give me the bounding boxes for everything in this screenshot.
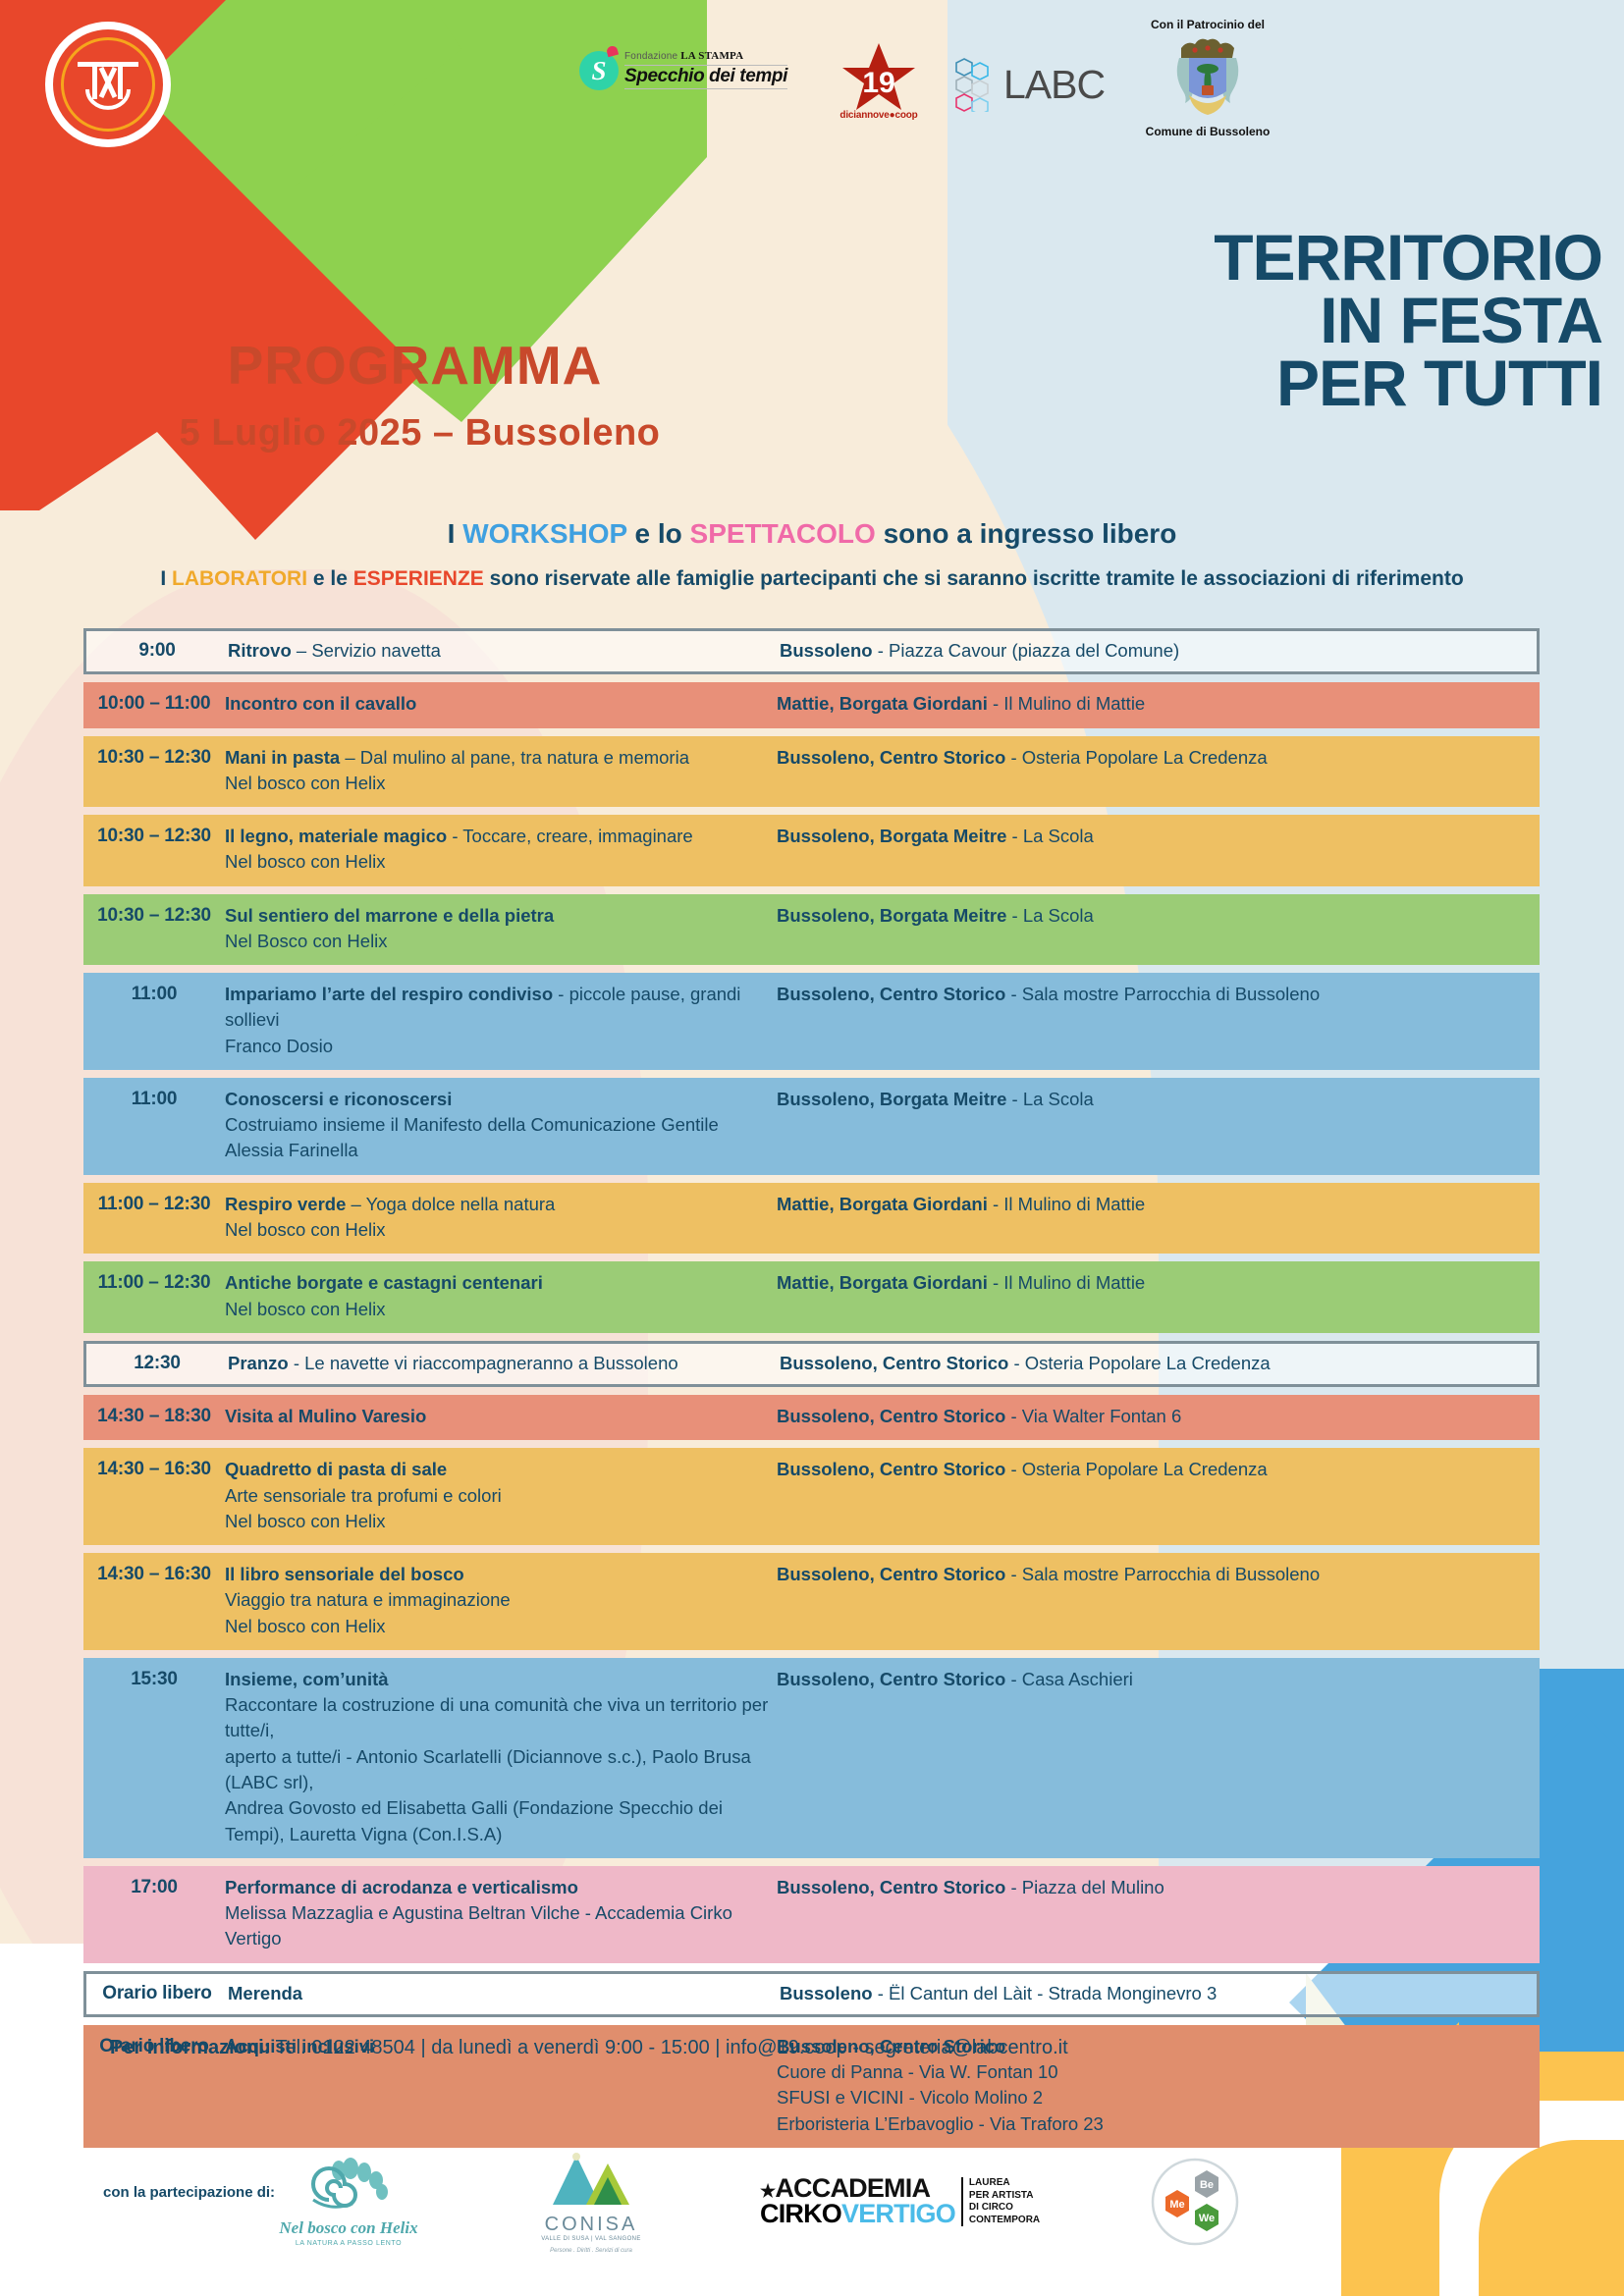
heart-icon: [606, 45, 619, 58]
schedule-place-cell: Bussoleno, Borgata Meitre - La Scola: [775, 1087, 1540, 1112]
schedule-activity-name: Mani in pasta: [225, 747, 340, 768]
schedule-place: Bussoleno - Piazza Cavour (piazza del Co…: [780, 638, 1537, 664]
main-title-line1: TERRITORIO: [992, 226, 1602, 289]
schedule-title-cell: Antiche borgate e castagni centenariNel …: [225, 1270, 775, 1322]
divider: [624, 88, 787, 89]
sponsor-logo-row: S Fondazione LA STAMPA Specchio dei temp…: [579, 14, 1296, 138]
schedule-activity: Conoscersi e riconoscersi: [225, 1087, 775, 1112]
schedule-activity: Insieme, com’unità: [225, 1667, 775, 1692]
schedule-row: Orario liberoMerendaBussoleno - Ël Cantu…: [83, 1971, 1540, 2017]
schedule-place: Bussoleno, Borgata Meitre - La Scola: [777, 903, 1540, 929]
specchio-lastampa: LA STAMPA: [680, 50, 743, 62]
cirko-word: CIRKO: [760, 2199, 841, 2228]
schedule-activity-subline: Nel bosco con Helix: [225, 771, 775, 796]
sub2-part-b: e le: [307, 567, 353, 590]
schedule-place: Bussoleno, Centro Storico - Casa Aschier…: [777, 1667, 1540, 1692]
schedule-place-locality: Bussoleno, Centro Storico: [777, 1877, 1005, 1897]
schedule-title-cell: Il libro sensoriale del boscoViaggio tra…: [225, 1562, 775, 1639]
schedule-place: Bussoleno, Centro Storico - Sala mostre …: [777, 982, 1540, 1007]
schedule-title-cell: Performance di acrodanza e verticalismoM…: [225, 1875, 775, 1952]
schedule-activity-detail: – Dal mulino al pane, tra natura e memor…: [340, 747, 689, 768]
schedule-activity-name: Conoscersi e riconoscersi: [225, 1089, 452, 1109]
schedule-activity-name: Insieme, com’unità: [225, 1669, 389, 1689]
schedule-place-venue: - La Scola: [1006, 826, 1093, 846]
schedule-activity-name: Il libro sensoriale del bosco: [225, 1564, 464, 1584]
schedule-activity: Visita al Mulino Varesio: [225, 1404, 775, 1429]
schedule-time: 17:00: [83, 1875, 225, 1898]
vertigo-word: VERTIGO: [841, 2199, 955, 2228]
sponsor-header: S Fondazione LA STAMPA Specchio dei temp…: [0, 0, 1624, 126]
logo-diciannove-coop: 19 diciannove●coop: [805, 14, 952, 121]
sub1-part-b: e lo: [627, 518, 690, 549]
schedule-place-venue: - Il Mulino di Mattie: [988, 1194, 1145, 1214]
contact-info-label: Per informazioni:: [110, 2037, 270, 2058]
schedule-activity-name: Respiro verde: [225, 1194, 346, 1214]
sub1-workshop: WORKSHOP: [462, 518, 627, 549]
schedule-place: Bussoleno, Centro Storico - Via Walter F…: [777, 1404, 1540, 1429]
schedule-place-venue: - Casa Aschieri: [1005, 1669, 1133, 1689]
main-title: TERRITORIO IN FESTA PER TUTTI: [992, 226, 1620, 414]
schedule-activity-name: Ritrovo: [228, 640, 292, 661]
schedule-title-cell: Pranzo - Le navette vi riaccompagneranno…: [228, 1351, 778, 1376]
schedule-activity: Pranzo - Le navette vi riaccompagneranno…: [228, 1351, 778, 1376]
schedule-activity-name: Sul sentiero del marrone e della pietra: [225, 905, 554, 926]
schedule-place-subline: Cuore di Panna - Via W. Fontan 10: [777, 2059, 1540, 2085]
schedule-activity-subline: Nel bosco con Helix: [225, 1509, 775, 1534]
programma-date: 5 Luglio 2025 – Bussoleno: [0, 412, 839, 454]
footer-logo-row: Nel bosco con Helix LA NATURA A PASSO LE…: [275, 2150, 1240, 2254]
schedule-place-subline: SFUSI e VICINI - Vicolo Molino 2: [777, 2085, 1540, 2110]
schedule-row: 15:30Insieme, com’unitàRaccontare la cos…: [83, 1658, 1540, 1858]
schedule-place-cell: Bussoleno, Centro Storico - Via Walter F…: [775, 1404, 1540, 1429]
comune-caption: Comune di Bussoleno: [1119, 125, 1296, 138]
schedule-activity-subline: Arte sensoriale tra profumi e colori: [225, 1483, 775, 1509]
schedule-time: Orario libero: [86, 1981, 228, 2004]
schedule-row: 12:30Pranzo - Le navette vi riaccompagne…: [83, 1341, 1540, 1387]
schedule-place-venue: - Sala mostre Parrocchia di Bussoleno: [1005, 1564, 1320, 1584]
schedule-place-locality: Bussoleno, Borgata Meitre: [777, 1089, 1006, 1109]
schedule-activity: Merenda: [228, 1981, 778, 2006]
schedule-place-locality: Bussoleno, Centro Storico: [777, 984, 1005, 1004]
schedule-place-locality: Bussoleno, Centro Storico: [777, 1564, 1005, 1584]
schedule-activity-detail: – Servizio navetta: [292, 640, 441, 661]
schedule-activity: Mani in pasta – Dal mulino al pane, tra …: [225, 745, 775, 771]
schedule-place-locality: Bussoleno, Borgata Meitre: [777, 905, 1006, 926]
schedule-row: 14:30 – 18:30Visita al Mulino VaresioBus…: [83, 1395, 1540, 1440]
contact-info: Per informazioni: Tel. 0122 48504 | da l…: [110, 2037, 1068, 2059]
sub1-part-c: sono a ingresso libero: [876, 518, 1177, 549]
schedule-time: 10:30 – 12:30: [83, 824, 225, 847]
schedule-time: 11:00 – 12:30: [83, 1270, 225, 1294]
schedule-time: 10:00 – 11:00: [83, 691, 225, 715]
sub2-part-c: sono riservate alle famiglie partecipant…: [484, 567, 1464, 590]
schedule-place-venue: - Osteria Popolare La Credenza: [1008, 1353, 1270, 1373]
star-19-icon: 19: [840, 41, 917, 114]
schedule-activity: Antiche borgate e castagni centenari: [225, 1270, 775, 1296]
schedule-row: 14:30 – 16:30Quadretto di pasta di saleA…: [83, 1448, 1540, 1545]
schedule-activity-subline: Nel Bosco con Helix: [225, 929, 775, 954]
schedule-activity-name: Performance di acrodanza e verticalismo: [225, 1877, 578, 1897]
sub2-esperienze: ESPERIENZE: [353, 567, 484, 590]
sub1-spettacolo: SPETTACOLO: [690, 518, 876, 549]
schedule-row: 11:00 – 12:30Antiche borgate e castagni …: [83, 1261, 1540, 1333]
helix-wordmark: Nel bosco con Helix: [275, 2218, 422, 2238]
schedule-activity: Impariamo l’arte del respiro condiviso -…: [225, 982, 775, 1034]
schedule-activity-subline: Nel bosco con Helix: [225, 849, 775, 875]
conisa-wordmark: CONISA: [532, 2214, 650, 2236]
schedule-place-subline: Erboristeria L’Erbavoglio - Via Traforo …: [777, 2111, 1540, 2137]
schedule-title-cell: Sul sentiero del marrone e della pietraN…: [225, 903, 775, 955]
schedule-place-cell: Bussoleno, Centro Storico - Sala mostre …: [775, 982, 1540, 1007]
schedule-row: 17:00Performance di acrodanza e vertical…: [83, 1866, 1540, 1963]
schedule-activity: Respiro verde – Yoga dolce nella natura: [225, 1192, 775, 1217]
schedule-place-cell: Bussoleno, Borgata Meitre - La Scola: [775, 824, 1540, 849]
logo-comune-di-bussoleno: Con il Patrocinio del Comune di Bussolen…: [1119, 14, 1296, 138]
svg-text:We: We: [1199, 2213, 1215, 2224]
schedule-activity-subline: Costruiamo insieme il Manifesto della Co…: [225, 1112, 775, 1138]
schedule-row: 11:00 – 12:30Respiro verde – Yoga dolce …: [83, 1183, 1540, 1255]
schedule-row: 10:30 – 12:30Mani in pasta – Dal mulino …: [83, 736, 1540, 808]
schedule-activity-name: Impariamo l’arte del respiro condiviso: [225, 984, 553, 1004]
schedule-row: 11:00Conoscersi e riconoscersiCostruiamo…: [83, 1078, 1540, 1175]
schedule-time: 9:00: [86, 638, 228, 662]
schedule-activity-name: Pranzo: [228, 1353, 289, 1373]
schedule-place: Bussoleno, Centro Storico - Piazza del M…: [777, 1875, 1540, 1900]
schedule-place: Mattie, Borgata Giordani - Il Mulino di …: [777, 691, 1540, 717]
schedule-title-cell: Conoscersi e riconoscersiCostruiamo insi…: [225, 1087, 775, 1164]
schedule-time: 15:30: [83, 1667, 225, 1690]
schedule-place-venue: - La Scola: [1006, 1089, 1093, 1109]
schedule-title-cell: Merenda: [228, 1981, 778, 2006]
conisa-tagline2: Persone . Diritti . Servizi di cura: [532, 2248, 650, 2254]
schedule-activity-subline: Nel bosco con Helix: [225, 1217, 775, 1243]
schedule-activity-name: Incontro con il cavallo: [225, 693, 416, 714]
schedule-title-cell: Insieme, com’unitàRaccontare la costruzi…: [225, 1667, 775, 1847]
subtitle-reserved: I LABORATORI e le ESPERIENZE sono riserv…: [0, 567, 1624, 591]
schedule-title-cell: Quadretto di pasta di saleArte sensorial…: [225, 1457, 775, 1534]
schedule-place-venue: - Osteria Popolare La Credenza: [1005, 1459, 1267, 1479]
schedule-place: Mattie, Borgata Giordani - Il Mulino di …: [777, 1192, 1540, 1217]
schedule-activity-subline: aperto a tutte/i - Antonio Scarlatelli (…: [225, 1744, 775, 1796]
logo-me-be-we: Be Me We: [1150, 2157, 1240, 2247]
schedule-place-locality: Bussoleno, Centro Storico: [777, 747, 1005, 768]
schedule-place-venue: - Il Mulino di Mattie: [988, 1272, 1145, 1293]
specchio-line2: Specchio dei tempi: [624, 67, 787, 86]
schedule-place-cell: Bussoleno, Centro Storico - Casa Aschier…: [775, 1667, 1540, 1692]
schedule-activity-name: Merenda: [228, 1983, 302, 2003]
schedule-place-locality: Bussoleno, Centro Storico: [777, 1406, 1005, 1426]
logo-specchio-dei-tempi: S Fondazione LA STAMPA Specchio dei temp…: [579, 14, 805, 90]
schedule-time: 14:30 – 16:30: [83, 1562, 225, 1585]
schedule-place-locality: Bussoleno: [780, 640, 873, 661]
schedule-time: 12:30: [86, 1351, 228, 1374]
specchio-line1: Fondazione LA STAMPA: [624, 51, 787, 63]
schedule-title-cell: Incontro con il cavallo: [225, 691, 775, 717]
schedule-place-cell: Bussoleno, Centro Storico - Osteria Popo…: [775, 1457, 1540, 1482]
cirko-wordmark-block: ★ACCADEMIA CIRKOVERTIGO: [760, 2176, 955, 2226]
conisa-mountains-icon: [549, 2150, 633, 2207]
cirko-side-text: LAUREAPER ARTISTADI CIRCOCONTEMPORA: [961, 2177, 1040, 2226]
schedule-place-locality: Bussoleno, Borgata Meitre: [777, 826, 1006, 846]
schedule-place: Bussoleno - Ël Cantun del Làit - Strada …: [780, 1981, 1537, 2006]
schedule-time: 11:00: [83, 982, 225, 1005]
schedule-place-locality: Bussoleno, Centro Storico: [777, 1459, 1005, 1479]
schedule-activity: Sul sentiero del marrone e della pietra: [225, 903, 775, 929]
specchio-fondazione: Fondazione: [624, 51, 677, 62]
schedule-place-venue: - Piazza del Mulino: [1005, 1877, 1164, 1897]
schedule-place-cell: Bussoleno, Centro Storico - Sala mostre …: [775, 1562, 1540, 1587]
specchio-wordmark: Fondazione LA STAMPA Specchio dei tempi: [624, 51, 787, 89]
schedule-row: 10:00 – 11:00Incontro con il cavalloMatt…: [83, 682, 1540, 727]
subtitle-free-entry: I WORKSHOP e lo SPETTACOLO sono a ingres…: [0, 518, 1624, 550]
schedule-place-cell: Bussoleno - Ël Cantun del Làit - Strada …: [778, 1981, 1537, 2006]
schedule-place-venue: - Ël Cantun del Làit - Strada Monginevro…: [873, 1983, 1218, 2003]
schedule-activity-subline: Raccontare la costruzione di una comunit…: [225, 1692, 775, 1744]
schedule-time: 10:30 – 12:30: [83, 745, 225, 769]
schedule-place: Bussoleno, Borgata Meitre - La Scola: [777, 824, 1540, 849]
schedule-activity-subline: Alessia Farinella: [225, 1138, 775, 1163]
schedule-place-locality: Mattie, Borgata Giordani: [777, 1194, 988, 1214]
schedule-place-cell: Bussoleno, Borgata Meitre - La Scola: [775, 903, 1540, 929]
schedule-activity-name: Quadretto di pasta di sale: [225, 1459, 447, 1479]
schedule-row: 9:00Ritrovo – Servizio navettaBussoleno …: [83, 628, 1540, 674]
schedule-activity-subline: Andrea Govosto ed Elisabetta Galli (Fond…: [225, 1795, 775, 1847]
svg-text:19: 19: [862, 67, 894, 99]
schedule-time: 14:30 – 18:30: [83, 1404, 225, 1427]
schedule-activity-subline: Nel bosco con Helix: [225, 1297, 775, 1322]
schedule-place-cell: Bussoleno, Centro Storico - Osteria Popo…: [775, 745, 1540, 771]
schedule-place: Bussoleno, Centro Storico - Osteria Popo…: [777, 745, 1540, 771]
cirkovertigo-line: CIRKOVERTIGO: [760, 2202, 955, 2227]
schedule-activity-detail: – Yoga dolce nella natura: [346, 1194, 555, 1214]
schedule-row: 11:00Impariamo l’arte del respiro condiv…: [83, 973, 1540, 1070]
main-title-line3: PER TUTTI: [992, 351, 1602, 414]
schedule-place-venue: - Sala mostre Parrocchia di Bussoleno: [1005, 984, 1320, 1004]
specchio-s-letter: S: [591, 56, 606, 86]
schedule-time: 11:00: [83, 1087, 225, 1110]
schedule-place: Bussoleno, Centro Storico - Osteria Popo…: [780, 1351, 1537, 1376]
schedule-activity: Il legno, materiale magico - Toccare, cr…: [225, 824, 775, 849]
schedule-place-locality: Bussoleno: [780, 1983, 873, 2003]
specchio-s-mark: S: [579, 51, 619, 90]
schedule-activity-subline: Franco Dosio: [225, 1034, 775, 1059]
schedule-row: 14:30 – 16:30Il libro sensoriale del bos…: [83, 1553, 1540, 1650]
schedule-place: Bussoleno, Centro Storico - Osteria Popo…: [777, 1457, 1540, 1482]
schedule-activity-name: Visita al Mulino Varesio: [225, 1406, 426, 1426]
logo-conisa: CONISA VALLE DI SUSA | VAL SANGONE Perso…: [532, 2150, 650, 2254]
labc-wordmark: LABC: [1003, 65, 1105, 105]
logo-nel-bosco-con-helix: Nel bosco con Helix LA NATURA A PASSO LE…: [275, 2157, 422, 2247]
schedule-place-locality: Bussoleno, Centro Storico: [780, 1353, 1008, 1373]
schedule-place-cell: Mattie, Borgata Giordani - Il Mulino di …: [775, 691, 1540, 717]
schedule-activity-subline: Nel bosco con Helix: [225, 1614, 775, 1639]
helix-snail-icon: [290, 2157, 407, 2217]
labc-hexagons-icon: [952, 57, 1000, 112]
schedule-activity-subline: Melissa Mazzaglia e Agustina Beltran Vil…: [225, 1900, 775, 1952]
svg-text:Be: Be: [1200, 2179, 1214, 2191]
schedule-place-cell: Bussoleno, Centro Storico - Piazza del M…: [775, 1875, 1540, 1900]
schedule-place-venue: - Il Mulino di Mattie: [988, 693, 1145, 714]
schedule-activity-subline: Viaggio tra natura e immaginazione: [225, 1587, 775, 1613]
schedule-table: 9:00Ritrovo – Servizio navettaBussoleno …: [83, 628, 1540, 2156]
schedule-title-cell: Ritrovo – Servizio navetta: [228, 638, 778, 664]
main-title-line2: IN FESTA: [992, 289, 1602, 351]
schedule-activity-name: Antiche borgate e castagni centenari: [225, 1272, 543, 1293]
schedule-title-cell: Visita al Mulino Varesio: [225, 1404, 775, 1429]
schedule-activity-name: Il legno, materiale magico: [225, 826, 447, 846]
schedule-time: 11:00 – 12:30: [83, 1192, 225, 1215]
schedule-place-venue: - Via Walter Fontan 6: [1005, 1406, 1181, 1426]
schedule-activity: Quadretto di pasta di sale: [225, 1457, 775, 1482]
schedule-place-locality: Mattie, Borgata Giordani: [777, 693, 988, 714]
schedule-title-cell: Mani in pasta – Dal mulino al pane, tra …: [225, 745, 775, 797]
schedule-time: 14:30 – 16:30: [83, 1457, 225, 1480]
schedule-place-venue: - Osteria Popolare La Credenza: [1005, 747, 1267, 768]
programma-heading: PROGRAMMA: [0, 334, 830, 397]
schedule-activity-detail: - Le navette vi riaccompagneranno a Buss…: [289, 1353, 678, 1373]
schedule-place-venue: - La Scola: [1006, 905, 1093, 926]
schedule-place-venue: - Piazza Cavour (piazza del Comune): [873, 640, 1180, 661]
schedule-activity: Performance di acrodanza e verticalismo: [225, 1875, 775, 1900]
schedule-place-cell: Mattie, Borgata Giordani - Il Mulino di …: [775, 1192, 1540, 1217]
schedule-time: 10:30 – 12:30: [83, 903, 225, 927]
conisa-tagline: VALLE DI SUSA | VAL SANGONE: [532, 2236, 650, 2242]
schedule-place-cell: Mattie, Borgata Giordani - Il Mulino di …: [775, 1270, 1540, 1296]
schedule-place-locality: Bussoleno, Centro Storico: [777, 1669, 1005, 1689]
footer-partners: con la partecipazione di: Nel bosco con …: [0, 2150, 1624, 2296]
schedule-place: Mattie, Borgata Giordani - Il Mulino di …: [777, 1270, 1540, 1296]
coat-of-arms-icon: [1169, 34, 1246, 117]
schedule-activity: Il libro sensoriale del bosco: [225, 1562, 775, 1587]
sub2-part-a: I: [160, 567, 172, 590]
logo-accademia-cirko-vertigo: ★ACCADEMIA CIRKOVERTIGO LAUREAPER ARTIST…: [760, 2176, 1040, 2226]
schedule-activity-detail: - Toccare, creare, immaginare: [447, 826, 693, 846]
patrocinio-caption: Con il Patrocinio del: [1119, 18, 1296, 31]
schedule-title-cell: Il legno, materiale magico - Toccare, cr…: [225, 824, 775, 876]
schedule-activity: Ritrovo – Servizio navetta: [228, 638, 778, 664]
sub2-laboratori: LABORATORI: [172, 567, 307, 590]
schedule-title-cell: Respiro verde – Yoga dolce nella naturaN…: [225, 1192, 775, 1244]
sub1-part-a: I: [448, 518, 463, 549]
contact-info-text: Tel. 0122 48504 | da lunedì a venerdì 9:…: [270, 2037, 1067, 2058]
logo-labc: LABC: [952, 14, 1119, 112]
schedule-place: Bussoleno, Centro Storico - Sala mostre …: [777, 1562, 1540, 1587]
schedule-row: 10:30 – 12:30Sul sentiero del marrone e …: [83, 894, 1540, 966]
schedule-title-cell: Impariamo l’arte del respiro condiviso -…: [225, 982, 775, 1059]
footer-lead-label: con la partecipazione di:: [103, 2184, 275, 2201]
svg-text:Me: Me: [1170, 2199, 1185, 2211]
schedule-place-cell: Bussoleno - Piazza Cavour (piazza del Co…: [778, 638, 1537, 664]
helix-tagline: LA NATURA A PASSO LENTO: [275, 2240, 422, 2247]
schedule-place-cell: Bussoleno, Centro Storico - Osteria Popo…: [778, 1351, 1537, 1376]
schedule-place-locality: Mattie, Borgata Giordani: [777, 1272, 988, 1293]
schedule-activity: Incontro con il cavallo: [225, 691, 775, 717]
schedule-place: Bussoleno, Borgata Meitre - La Scola: [777, 1087, 1540, 1112]
schedule-row: 10:30 – 12:30Il legno, materiale magico …: [83, 815, 1540, 886]
